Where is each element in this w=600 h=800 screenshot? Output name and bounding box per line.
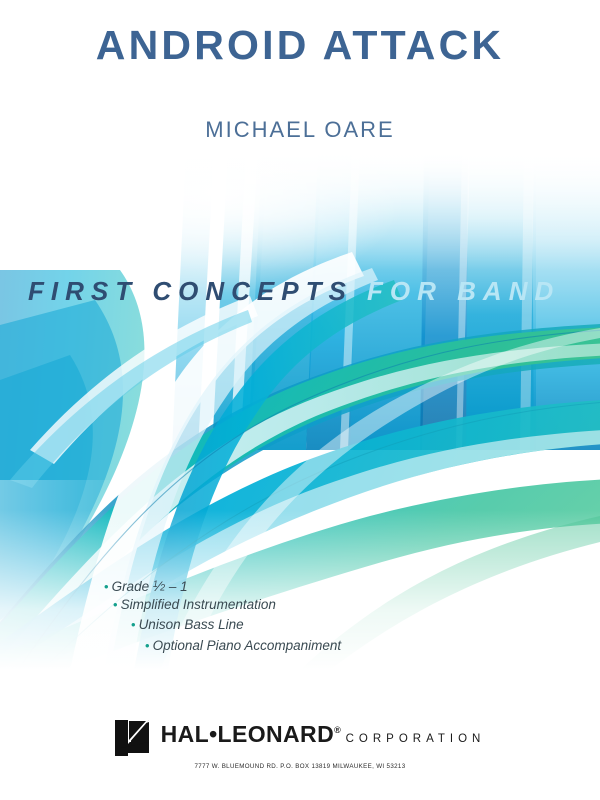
bullet-icon: • — [113, 597, 118, 612]
bullet-icon: • — [104, 579, 109, 594]
fraction-numerator: 1 — [153, 579, 158, 589]
series-label: FIRST CONCEPTS FOR BAND — [28, 276, 560, 307]
bullet-icon: • — [145, 638, 150, 653]
feature-text: Optional Piano Accompaniment — [153, 638, 342, 653]
publisher-division: CORPORATION — [346, 733, 486, 745]
composer-name: MICHAEL OARE — [0, 117, 600, 143]
publisher-block: HAL•LEONARD® CORPORATION 7777 W. BLUEMOU… — [0, 718, 600, 770]
list-item: •Simplified Instrumentation — [0, 595, 600, 616]
hal-leonard-wordmark: HAL•LEONARD® CORPORATION — [161, 718, 486, 747]
hal-leonard-logo: HAL•LEONARD® CORPORATION — [115, 718, 486, 760]
series-primary: FIRST CONCEPTS — [28, 276, 353, 306]
list-item: •Optional Piano Accompaniment — [0, 636, 600, 657]
series-secondary: FOR BAND — [367, 276, 560, 306]
bullet-icon: • — [131, 617, 136, 632]
list-item: •Grade 1⁄2 – 1 — [0, 574, 600, 595]
feature-list: •Grade 1⁄2 – 1 •Simplified Instrumentati… — [0, 574, 600, 656]
hal-leonard-monogram-icon — [115, 720, 155, 756]
grade-suffix: – 1 — [165, 579, 188, 594]
feature-text: Simplified Instrumentation — [121, 597, 276, 612]
registered-trademark: ® — [334, 725, 341, 735]
publisher-name: HAL•LEONARD® — [161, 721, 342, 747]
grade-fraction: 1⁄2 — [153, 579, 165, 594]
publisher-address: 7777 W. BLUEMOUND RD. P.O. BOX 13819 MIL… — [0, 763, 600, 770]
feature-text: Unison Bass Line — [139, 617, 244, 632]
feature-text: Grade — [112, 579, 153, 594]
sheet-music-cover: ANDROID ATTACK MICHAEL OARE FIRST CONCEP… — [0, 0, 600, 800]
page-title: ANDROID ATTACK — [0, 22, 600, 69]
list-item: •Unison Bass Line — [0, 615, 600, 636]
